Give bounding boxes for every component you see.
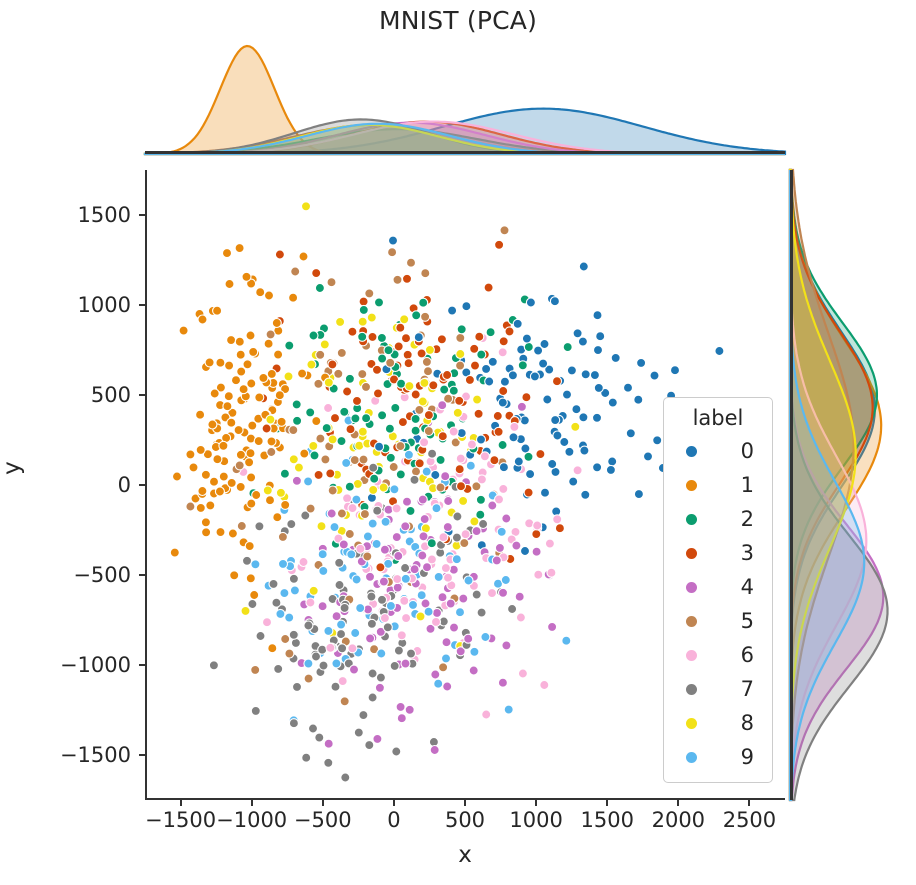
scatter-point bbox=[348, 644, 357, 653]
scatter-point bbox=[411, 426, 420, 435]
scatter-point bbox=[210, 477, 219, 486]
scatter-point bbox=[594, 383, 603, 392]
scatter-point bbox=[209, 661, 218, 670]
scatter-point bbox=[402, 334, 411, 343]
scatter-point bbox=[179, 326, 188, 335]
x-tick-label: 1500 bbox=[580, 808, 633, 832]
scatter-point bbox=[267, 369, 276, 378]
scatter-point bbox=[581, 370, 590, 379]
scatter-point bbox=[266, 496, 275, 505]
scatter-point bbox=[359, 305, 368, 314]
scatter-point bbox=[462, 302, 471, 311]
scatter-point bbox=[457, 482, 466, 491]
scatter-point bbox=[415, 405, 424, 414]
scatter-point bbox=[456, 454, 465, 463]
scatter-point bbox=[514, 457, 523, 466]
scatter-point bbox=[380, 614, 389, 623]
y-tick-label: −1000 bbox=[0, 653, 131, 677]
scatter-point bbox=[455, 465, 464, 474]
x-tick-label: −1500 bbox=[145, 808, 216, 832]
scatter-point bbox=[280, 589, 289, 598]
scatter-point bbox=[418, 397, 427, 406]
scatter-point bbox=[448, 306, 457, 315]
scatter-point bbox=[416, 612, 425, 621]
scatter-point bbox=[393, 575, 402, 584]
scatter-point bbox=[287, 520, 296, 529]
scatter-point bbox=[315, 733, 324, 742]
legend-item-3[interactable]: 3 bbox=[664, 536, 772, 570]
scatter-point bbox=[459, 496, 468, 505]
scatter-point bbox=[442, 638, 451, 647]
scatter-point bbox=[522, 393, 531, 402]
scatter-point bbox=[235, 244, 244, 253]
scatter-point bbox=[373, 365, 382, 374]
scatter-point bbox=[345, 482, 354, 491]
scatter-point bbox=[256, 288, 265, 297]
scatter-point bbox=[263, 618, 272, 627]
jointplot-figure: MNIST (PCA) −1500−1000−50005001000150020… bbox=[0, 0, 916, 885]
scatter-point bbox=[400, 315, 409, 324]
scatter-point bbox=[495, 495, 504, 504]
scatter-point bbox=[320, 340, 329, 349]
scatter-point bbox=[289, 293, 298, 302]
scatter-point bbox=[547, 568, 556, 577]
scatter-point bbox=[504, 705, 513, 714]
x-tick-label: 2500 bbox=[723, 808, 776, 832]
scatter-point bbox=[410, 475, 419, 484]
scatter-point bbox=[243, 556, 252, 565]
scatter-point bbox=[502, 514, 511, 523]
scatter-point bbox=[205, 358, 214, 367]
legend-item-label: 0 bbox=[697, 439, 766, 463]
legend-item-label: 8 bbox=[697, 711, 766, 735]
scatter-point bbox=[248, 600, 257, 609]
scatter-point bbox=[402, 614, 411, 623]
scatter-point bbox=[345, 374, 354, 383]
scatter-point bbox=[359, 297, 368, 306]
scatter-point bbox=[310, 451, 319, 460]
scatter-point bbox=[571, 422, 580, 431]
scatter-point bbox=[498, 441, 507, 450]
scatter-point bbox=[456, 350, 465, 359]
scatter-point bbox=[533, 521, 542, 530]
scatter-point bbox=[590, 371, 599, 380]
scatter-point bbox=[425, 345, 434, 354]
y-tick-mark bbox=[139, 484, 145, 486]
scatter-point bbox=[332, 612, 341, 621]
scatter-point bbox=[281, 635, 290, 644]
scatter-point bbox=[225, 280, 234, 289]
scatter-point bbox=[304, 621, 313, 630]
legend-item-5[interactable]: 5 bbox=[664, 604, 772, 638]
scatter-point bbox=[499, 337, 508, 346]
scatter-point bbox=[392, 504, 401, 513]
scatter-point bbox=[293, 682, 302, 691]
scatter-point bbox=[543, 395, 552, 404]
scatter-point bbox=[306, 408, 315, 417]
scatter-point bbox=[266, 330, 275, 339]
scatter-point bbox=[186, 450, 195, 459]
scatter-point bbox=[276, 488, 285, 497]
scatter-point bbox=[326, 643, 335, 652]
scatter-point bbox=[396, 470, 405, 479]
scatter-point bbox=[545, 539, 554, 548]
legend-item-2[interactable]: 2 bbox=[664, 502, 772, 536]
scatter-point bbox=[265, 291, 274, 300]
scatter-point bbox=[406, 506, 415, 515]
scatter-point bbox=[309, 586, 318, 595]
legend-item-8[interactable]: 8 bbox=[664, 706, 772, 740]
scatter-point bbox=[255, 522, 264, 531]
scatter-point bbox=[394, 552, 403, 561]
scatter-point bbox=[324, 626, 333, 635]
right-marginal-kde-axes bbox=[790, 170, 902, 800]
scatter-point bbox=[245, 542, 254, 551]
scatter-point bbox=[373, 506, 382, 515]
scatter-point bbox=[374, 389, 383, 398]
scatter-point bbox=[225, 361, 234, 370]
scatter-point bbox=[397, 714, 406, 723]
scatter-point bbox=[375, 298, 384, 307]
scatter-point bbox=[331, 414, 340, 423]
scatter-point bbox=[213, 455, 222, 464]
scatter-point bbox=[378, 354, 387, 363]
scatter-point bbox=[578, 337, 587, 346]
scatter-point bbox=[250, 591, 259, 600]
scatter-point bbox=[302, 753, 311, 762]
scatter-point bbox=[563, 390, 572, 399]
scatter-point bbox=[637, 358, 646, 367]
scatter-point bbox=[384, 505, 393, 514]
scatter-point bbox=[341, 773, 350, 782]
scatter-point bbox=[384, 346, 393, 355]
scatter-point bbox=[245, 458, 254, 467]
scatter-point bbox=[418, 495, 427, 504]
scatter-point bbox=[328, 435, 337, 444]
scatter-point bbox=[553, 377, 562, 386]
scatter-point bbox=[401, 659, 410, 668]
legend-item-4[interactable]: 4 bbox=[664, 570, 772, 604]
scatter-point bbox=[470, 517, 479, 526]
scatter-point bbox=[309, 331, 318, 340]
scatter-point bbox=[251, 665, 260, 674]
scatter-point bbox=[328, 486, 337, 495]
scatter-point bbox=[671, 366, 680, 375]
legend-item-1[interactable]: 1 bbox=[664, 468, 772, 502]
scatter-point bbox=[227, 336, 236, 345]
scatter-point bbox=[307, 360, 316, 369]
scatter-point bbox=[518, 669, 527, 678]
scatter-point bbox=[216, 358, 225, 367]
legend-item-7[interactable]: 7 bbox=[664, 672, 772, 706]
scatter-point bbox=[353, 396, 362, 405]
scatter-point bbox=[541, 488, 550, 497]
scatter-point bbox=[332, 659, 341, 668]
scatter-point bbox=[562, 636, 571, 645]
scatter-point bbox=[441, 472, 450, 481]
scatter-point bbox=[495, 240, 504, 249]
scatter-point bbox=[365, 741, 374, 750]
scatter-point bbox=[524, 452, 533, 461]
scatter-point bbox=[499, 588, 508, 597]
scatter-point bbox=[580, 446, 589, 455]
legend-entries: 0123456789 bbox=[664, 434, 772, 774]
legend-swatch-icon bbox=[686, 582, 697, 593]
scatter-point bbox=[293, 416, 302, 425]
scatter-point bbox=[524, 488, 533, 497]
scatter-point bbox=[497, 527, 506, 536]
scatter-point bbox=[407, 649, 416, 658]
x-tick-mark bbox=[748, 800, 750, 806]
scatter-point bbox=[386, 601, 395, 610]
scatter-point bbox=[267, 448, 276, 457]
scatter-point bbox=[230, 571, 239, 580]
scatter-point bbox=[319, 566, 328, 575]
scatter-point bbox=[459, 594, 468, 603]
scatter-point bbox=[342, 458, 351, 467]
scatter-point bbox=[213, 306, 222, 315]
scatter-point bbox=[626, 429, 635, 438]
scatter-point bbox=[264, 339, 273, 348]
scatter-point bbox=[232, 376, 241, 385]
scatter-point bbox=[312, 417, 321, 426]
scatter-point bbox=[368, 519, 377, 528]
scatter-point bbox=[553, 431, 562, 440]
scatter-point bbox=[331, 682, 340, 691]
scatter-point bbox=[433, 608, 442, 617]
scatter-point bbox=[486, 328, 495, 337]
scatter-point bbox=[247, 473, 256, 482]
scatter-point bbox=[289, 426, 298, 435]
x-tick-label: 1000 bbox=[509, 808, 562, 832]
scatter-point bbox=[289, 719, 298, 728]
scatter-point bbox=[424, 607, 433, 616]
scatter-point bbox=[304, 659, 313, 668]
scatter-point bbox=[246, 331, 255, 340]
scatter-point bbox=[505, 327, 514, 336]
scatter-point bbox=[236, 482, 245, 491]
scatter-point bbox=[449, 427, 458, 436]
scatter-point bbox=[366, 572, 375, 581]
scatter-point bbox=[321, 455, 330, 464]
scatter-point bbox=[436, 455, 445, 464]
scatter-point bbox=[227, 418, 236, 427]
scatter-point bbox=[369, 485, 378, 494]
scatter-point bbox=[312, 652, 321, 661]
scatter-point bbox=[443, 523, 452, 532]
scatter-point bbox=[389, 463, 398, 472]
scatter-point bbox=[467, 440, 476, 449]
scatter-point bbox=[471, 361, 480, 370]
scatter-point bbox=[314, 470, 323, 479]
scatter-point bbox=[312, 269, 321, 278]
scatter-point bbox=[414, 333, 423, 342]
scatter-point bbox=[476, 495, 485, 504]
scatter-point bbox=[438, 432, 447, 441]
scatter-point bbox=[390, 661, 399, 670]
scatter-point bbox=[482, 364, 491, 373]
scatter-point bbox=[513, 319, 522, 328]
scatter-point bbox=[446, 599, 455, 608]
scatter-point bbox=[304, 674, 313, 683]
scatter-point bbox=[273, 513, 282, 522]
scatter-point bbox=[644, 452, 653, 461]
scatter-point bbox=[443, 371, 452, 380]
scatter-point bbox=[424, 427, 433, 436]
legend[interactable]: label 0123456789 bbox=[663, 397, 773, 783]
scatter-point bbox=[474, 409, 483, 418]
top-marginal-kde-svg bbox=[145, 40, 785, 154]
right-marginal-kde-svg bbox=[790, 170, 902, 800]
scatter-point bbox=[653, 436, 662, 445]
scatter-point bbox=[383, 623, 392, 632]
legend-swatch-icon bbox=[686, 548, 697, 559]
legend-item-0[interactable]: 0 bbox=[664, 434, 772, 468]
scatter-point bbox=[352, 575, 361, 584]
legend-item-9[interactable]: 9 bbox=[664, 740, 772, 774]
scatter-point bbox=[300, 449, 309, 458]
scatter-point bbox=[266, 415, 275, 424]
scatter-point bbox=[350, 665, 359, 674]
scatter-point bbox=[315, 284, 324, 293]
scatter-point bbox=[340, 407, 349, 416]
x-tick-mark bbox=[535, 800, 537, 806]
scatter-point bbox=[419, 532, 428, 541]
x-tick-label: 2000 bbox=[652, 808, 705, 832]
scatter-point bbox=[309, 724, 318, 733]
scatter-point bbox=[453, 512, 462, 521]
scatter-point bbox=[565, 447, 574, 456]
scatter-point bbox=[404, 450, 413, 459]
scatter-point bbox=[469, 666, 478, 675]
scatter-point bbox=[534, 570, 543, 579]
scatter-point bbox=[196, 410, 205, 419]
scatter-point bbox=[409, 600, 418, 609]
scatter-point bbox=[322, 424, 331, 433]
scatter-point bbox=[417, 591, 426, 600]
scatter-point bbox=[272, 319, 281, 328]
chart-title: MNIST (PCA) bbox=[0, 6, 916, 35]
scatter-point bbox=[427, 539, 436, 548]
scatter-point bbox=[472, 527, 481, 536]
legend-swatch-icon bbox=[686, 718, 697, 729]
scatter-point bbox=[573, 329, 582, 338]
y-tick-mark bbox=[139, 304, 145, 306]
y-tick-label: 1500 bbox=[0, 203, 131, 227]
scatter-point bbox=[219, 441, 228, 450]
scatter-point bbox=[278, 532, 287, 541]
scatter-point bbox=[351, 414, 360, 423]
scatter-point bbox=[277, 417, 286, 426]
scatter-point bbox=[252, 491, 261, 500]
scatter-point bbox=[420, 515, 429, 524]
scatter-point bbox=[335, 581, 344, 590]
x-tick-mark bbox=[464, 800, 466, 806]
scatter-point bbox=[239, 385, 248, 394]
scatter-point bbox=[553, 515, 562, 524]
scatter-point bbox=[363, 552, 372, 561]
scatter-point bbox=[493, 412, 502, 421]
scatter-point bbox=[340, 603, 349, 612]
top-marginal-kde-axes bbox=[145, 40, 785, 154]
x-tick-mark bbox=[393, 800, 395, 806]
scatter-point bbox=[173, 472, 182, 481]
scatter-point bbox=[367, 313, 376, 322]
scatter-point bbox=[436, 483, 445, 492]
scatter-point bbox=[330, 523, 339, 532]
scatter-point bbox=[403, 350, 412, 359]
scatter-point bbox=[309, 441, 318, 450]
scatter-point bbox=[428, 449, 437, 458]
x-tick-label: 500 bbox=[445, 808, 485, 832]
legend-item-6[interactable]: 6 bbox=[664, 638, 772, 672]
scatter-point bbox=[573, 466, 582, 475]
scatter-point bbox=[532, 530, 541, 539]
scatter-point bbox=[420, 438, 429, 447]
legend-item-label: 5 bbox=[697, 609, 766, 633]
scatter-point bbox=[441, 564, 450, 573]
scatter-point bbox=[420, 378, 429, 387]
scatter-point bbox=[347, 550, 356, 559]
scatter-point bbox=[499, 387, 508, 396]
scatter-point bbox=[292, 400, 301, 409]
scatter-point bbox=[470, 647, 479, 656]
scatter-point bbox=[421, 312, 430, 321]
scatter-point bbox=[327, 509, 336, 518]
scatter-point bbox=[438, 593, 447, 602]
scatter-point bbox=[422, 357, 431, 366]
y-tick-mark bbox=[139, 664, 145, 666]
scatter-point bbox=[439, 663, 448, 672]
scatter-point bbox=[314, 379, 323, 388]
scatter-point bbox=[550, 297, 559, 306]
scatter-point bbox=[248, 421, 257, 430]
scatter-point bbox=[421, 599, 430, 608]
x-tick-label: −500 bbox=[294, 808, 352, 832]
scatter-point bbox=[499, 484, 508, 493]
scatter-point bbox=[386, 358, 395, 367]
scatter-point bbox=[337, 620, 346, 629]
scatter-point bbox=[345, 530, 354, 539]
scatter-point bbox=[401, 574, 410, 583]
scatter-point bbox=[438, 401, 447, 410]
scatter-point bbox=[403, 274, 412, 283]
scatter-point bbox=[228, 529, 237, 538]
scatter-point bbox=[466, 461, 475, 470]
scatter-point bbox=[410, 565, 419, 574]
scatter-point bbox=[377, 649, 386, 658]
x-tick-mark bbox=[251, 800, 253, 806]
scatter-point bbox=[355, 441, 364, 450]
scatter-point bbox=[285, 341, 294, 350]
scatter-point bbox=[279, 559, 288, 568]
scatter-point bbox=[608, 457, 617, 466]
scatter-point bbox=[400, 596, 409, 605]
scatter-point bbox=[396, 702, 405, 711]
scatter-point bbox=[281, 500, 290, 509]
scatter-point bbox=[396, 442, 405, 451]
scatter-point bbox=[431, 670, 440, 679]
scatter-point bbox=[356, 544, 365, 553]
scatter-point bbox=[379, 577, 388, 586]
x-tick-label: 0 bbox=[387, 808, 400, 832]
scatter-point bbox=[350, 456, 359, 465]
scatter-point bbox=[502, 641, 511, 650]
scatter-point bbox=[522, 334, 531, 343]
scatter-point bbox=[246, 574, 255, 583]
scatter-point bbox=[362, 382, 371, 391]
scatter-point bbox=[380, 545, 389, 554]
